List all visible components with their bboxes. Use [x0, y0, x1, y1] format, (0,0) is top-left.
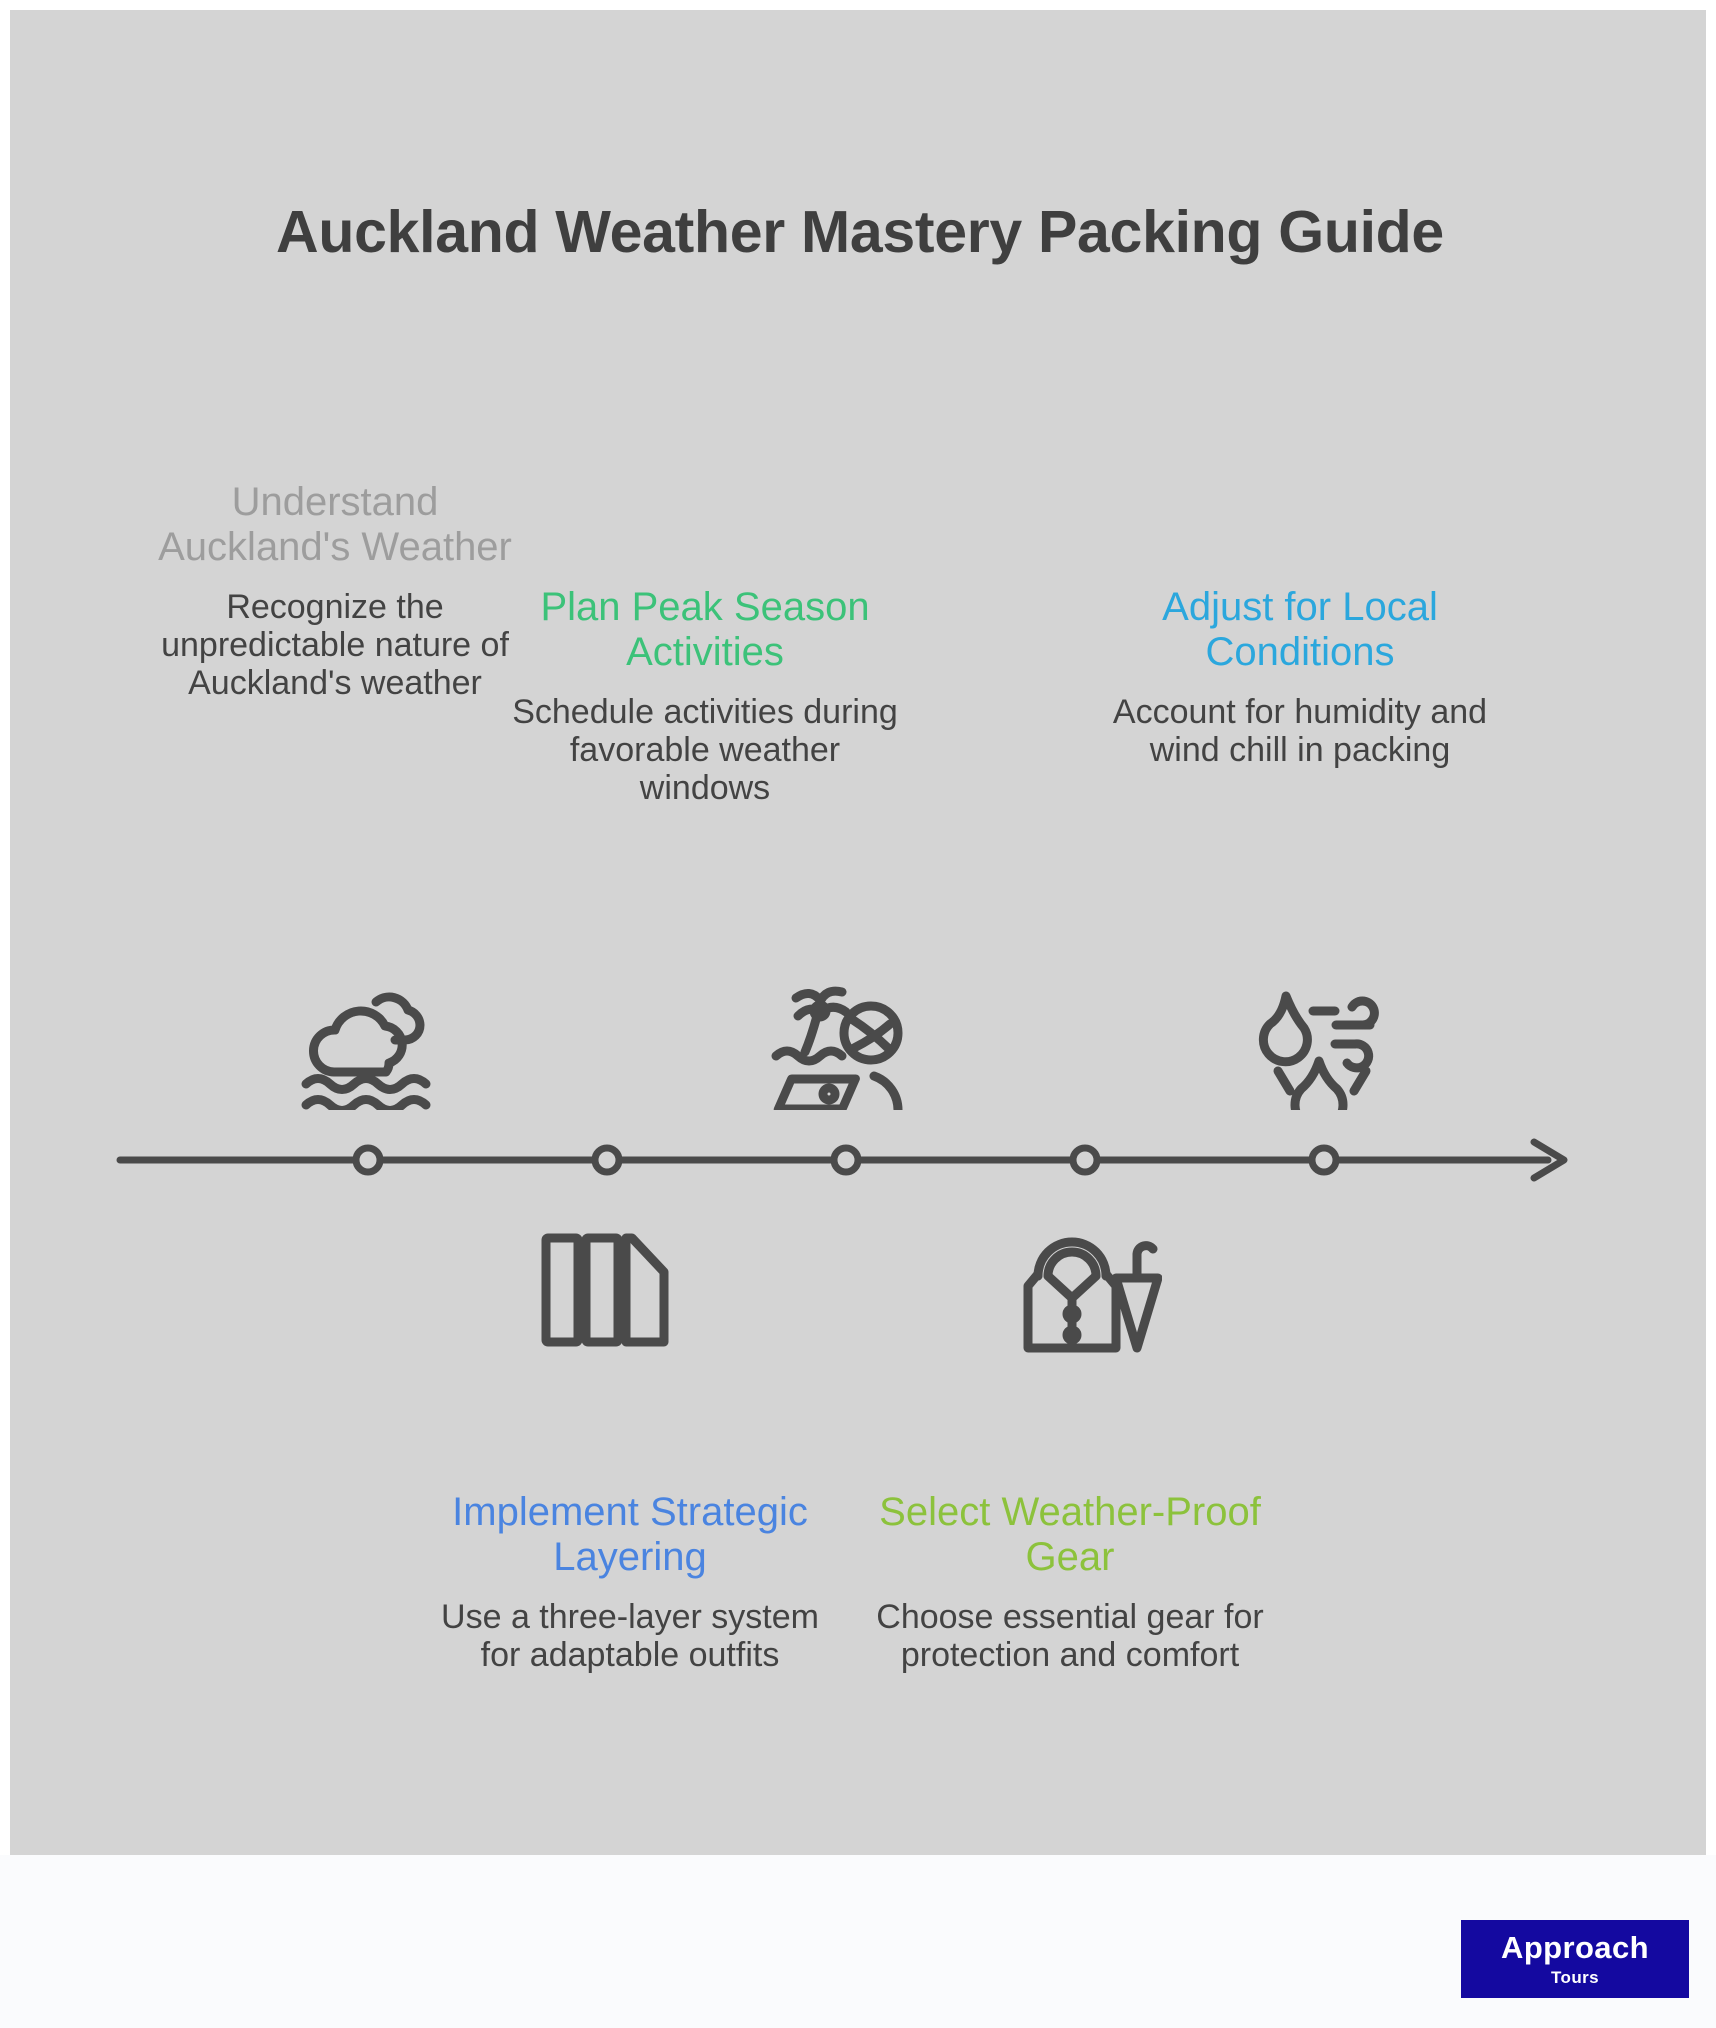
- footer-band: [0, 1855, 1716, 2028]
- timeline-node-2: [595, 1148, 619, 1172]
- timeline-node-4: [1073, 1148, 1097, 1172]
- approach-tours-logo: Approach Tours: [1461, 1920, 1689, 1998]
- step-block-2: Implement Strategic Layering Use a three…: [430, 1490, 830, 1674]
- step-4-body: Choose essential gear for protection and…: [870, 1598, 1270, 1674]
- step-block-1: Understand Auckland's Weather Recognize …: [140, 480, 530, 702]
- page-title: Auckland Weather Mastery Packing Guide: [170, 195, 1550, 271]
- step-5-body: Account for humidity and wind chill in p…: [1100, 693, 1500, 769]
- step-3-body: Schedule activities during favorable wea…: [510, 693, 900, 807]
- step-1-body: Recognize the unpredictable nature of Au…: [140, 588, 530, 702]
- clouds-fog-icon: [298, 980, 438, 1110]
- logo-line-2: Tours: [1461, 1968, 1689, 1988]
- infographic-canvas: Auckland Weather Mastery Packing Guide U…: [10, 10, 1706, 1855]
- step-3-heading: Plan Peak Season Activities: [510, 585, 900, 675]
- timeline-axis: [10, 1130, 1706, 1190]
- step-block-4: Select Weather-Proof Gear Choose essenti…: [870, 1490, 1270, 1674]
- step-1-heading: Understand Auckland's Weather: [140, 480, 530, 570]
- humidity-wind-icon: [1250, 978, 1388, 1110]
- step-2-body: Use a three-layer system for adaptable o…: [430, 1598, 830, 1674]
- step-5-heading: Adjust for Local Conditions: [1100, 585, 1500, 675]
- raincoat-umbrella-icon: [1018, 1220, 1162, 1354]
- layered-clothing-icon: [540, 1228, 670, 1348]
- step-4-heading: Select Weather-Proof Gear: [870, 1490, 1270, 1580]
- logo-line-1: Approach: [1461, 1930, 1689, 1966]
- timeline-node-5: [1312, 1148, 1336, 1172]
- step-block-3: Plan Peak Season Activities Schedule act…: [510, 585, 900, 807]
- step-block-5: Adjust for Local Conditions Account for …: [1100, 585, 1500, 769]
- timeline-node-1: [356, 1148, 380, 1172]
- step-2-heading: Implement Strategic Layering: [430, 1490, 830, 1580]
- timeline-node-3: [834, 1148, 858, 1172]
- beach-palm-icon: [770, 978, 910, 1110]
